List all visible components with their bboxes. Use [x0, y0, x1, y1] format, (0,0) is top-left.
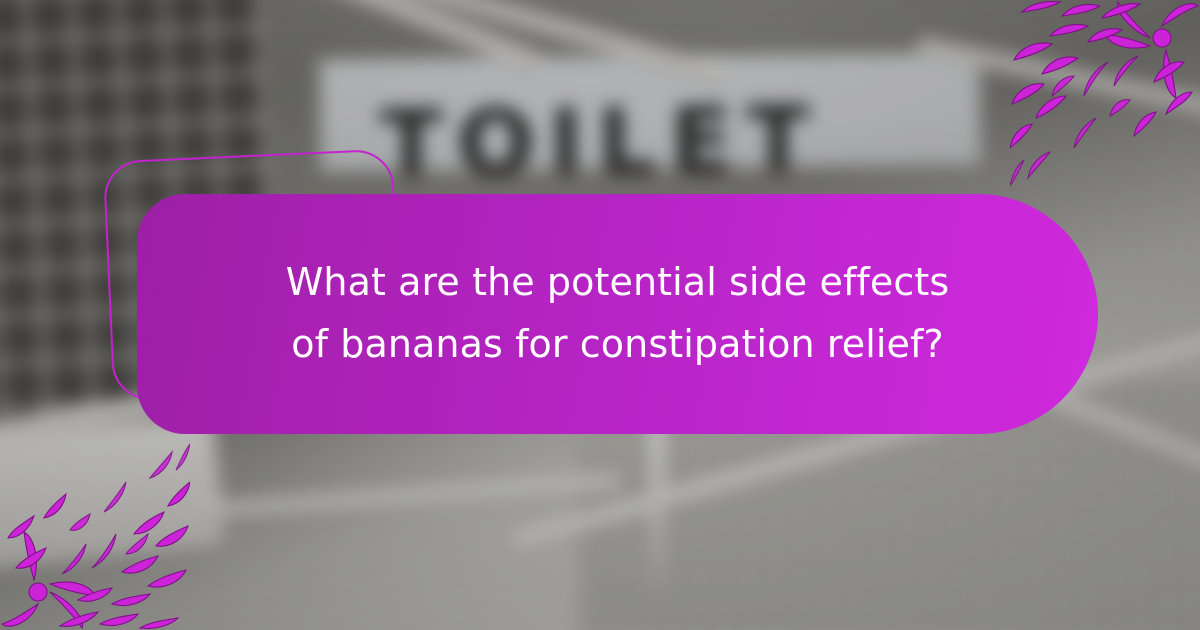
question-card: What are the potential side effects of b…: [137, 194, 1098, 434]
poster-canvas: TOILET: [0, 0, 1200, 630]
question-text: What are the potential side effects of b…: [268, 252, 968, 375]
